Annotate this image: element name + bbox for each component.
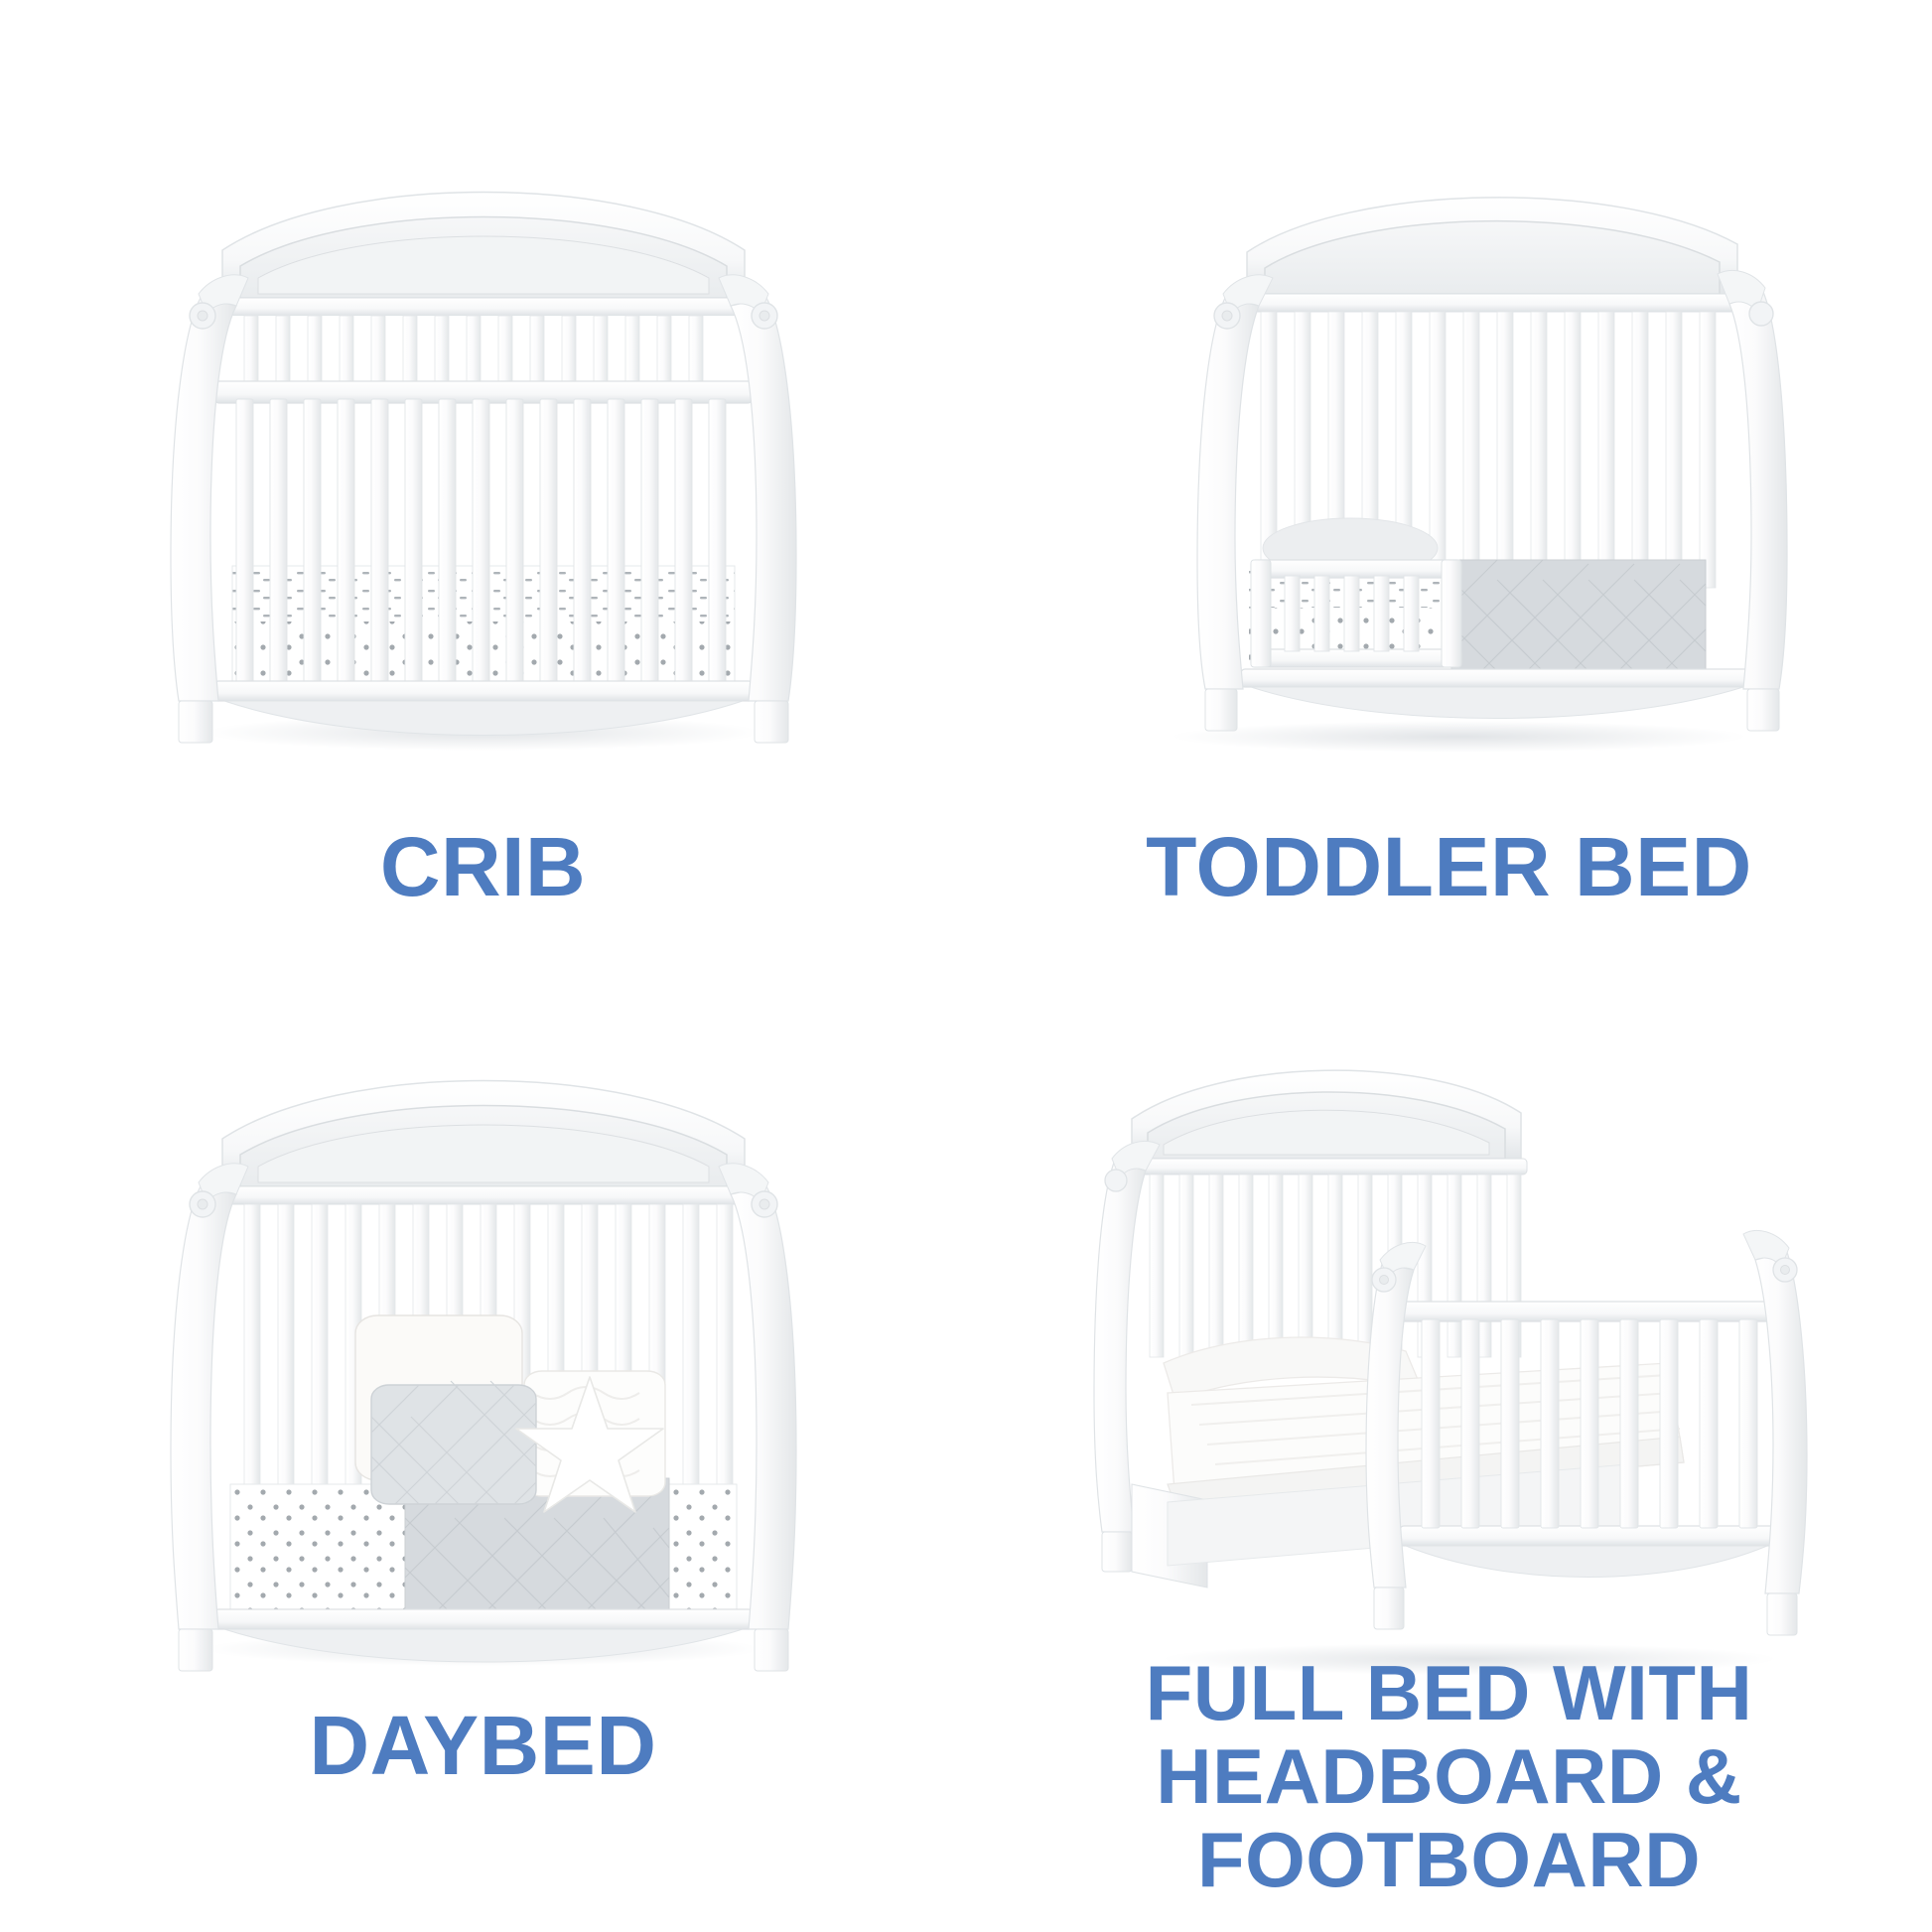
panel-toddler-bed[interactable]: TODDLER BED [966, 0, 1932, 966]
crib-front-slats[interactable] [236, 399, 726, 685]
caption-toddler-bed: TODDLER BED [966, 822, 1932, 912]
caption-full-bed-line-2: HEADBOARD & FOOTBOARD [966, 1734, 1932, 1901]
crib-leg-left [179, 701, 212, 743]
toddler-leg-right [1747, 689, 1779, 731]
configuration-grid: CRIB [0, 0, 1932, 1932]
daybed-pillow-gray-quilted [371, 1381, 536, 1504]
crib-headboard [218, 193, 749, 317]
caption-daybed: DAYBED [0, 1701, 966, 1791]
daybed-leg-right [755, 1629, 788, 1671]
panel-daybed[interactable]: DAYBED [0, 966, 966, 1932]
rosette-icon [1749, 302, 1773, 326]
toddler-base-rail [1241, 669, 1753, 719]
toddler-bed-shadow [1172, 721, 1747, 753]
caption-crib: CRIB [0, 822, 966, 912]
full-bed-leg-front-left [1374, 1587, 1404, 1629]
crib-illustration [0, 139, 966, 764]
full-bed-leg-back-left [1102, 1532, 1132, 1572]
daybed-leg-left [179, 1629, 212, 1671]
full-bed-footboard[interactable] [1366, 1230, 1807, 1635]
panel-full-bed[interactable]: FULL BED WITH HEADBOARD & FOOTBOARD [966, 966, 1932, 1932]
toddler-leg-left [1205, 689, 1237, 731]
daybed-illustration [0, 1035, 966, 1681]
panel-crib[interactable]: CRIB [0, 0, 966, 966]
crib-svg [141, 139, 826, 764]
toddler-bed-illustration [966, 149, 1932, 764]
rosette-icon [1105, 1170, 1127, 1191]
toddler-bed-svg [1102, 149, 1797, 764]
full-bed-leg-front-right [1767, 1593, 1797, 1635]
crib-back-slats [232, 316, 735, 387]
toddler-headboard [1243, 198, 1745, 312]
daybed-headboard [218, 1081, 749, 1205]
toddler-right-post [1718, 270, 1787, 731]
toddler-blanket [1451, 560, 1706, 671]
full-bed-svg [1072, 1035, 1827, 1691]
crib-leg-right [755, 701, 788, 743]
caption-full-bed-line-1: FULL BED WITH [966, 1651, 1932, 1734]
caption-full-bed: FULL BED WITH HEADBOARD & FOOTBOARD [966, 1651, 1932, 1902]
full-bed-illustration [966, 1035, 1932, 1691]
daybed-svg [141, 1035, 826, 1681]
